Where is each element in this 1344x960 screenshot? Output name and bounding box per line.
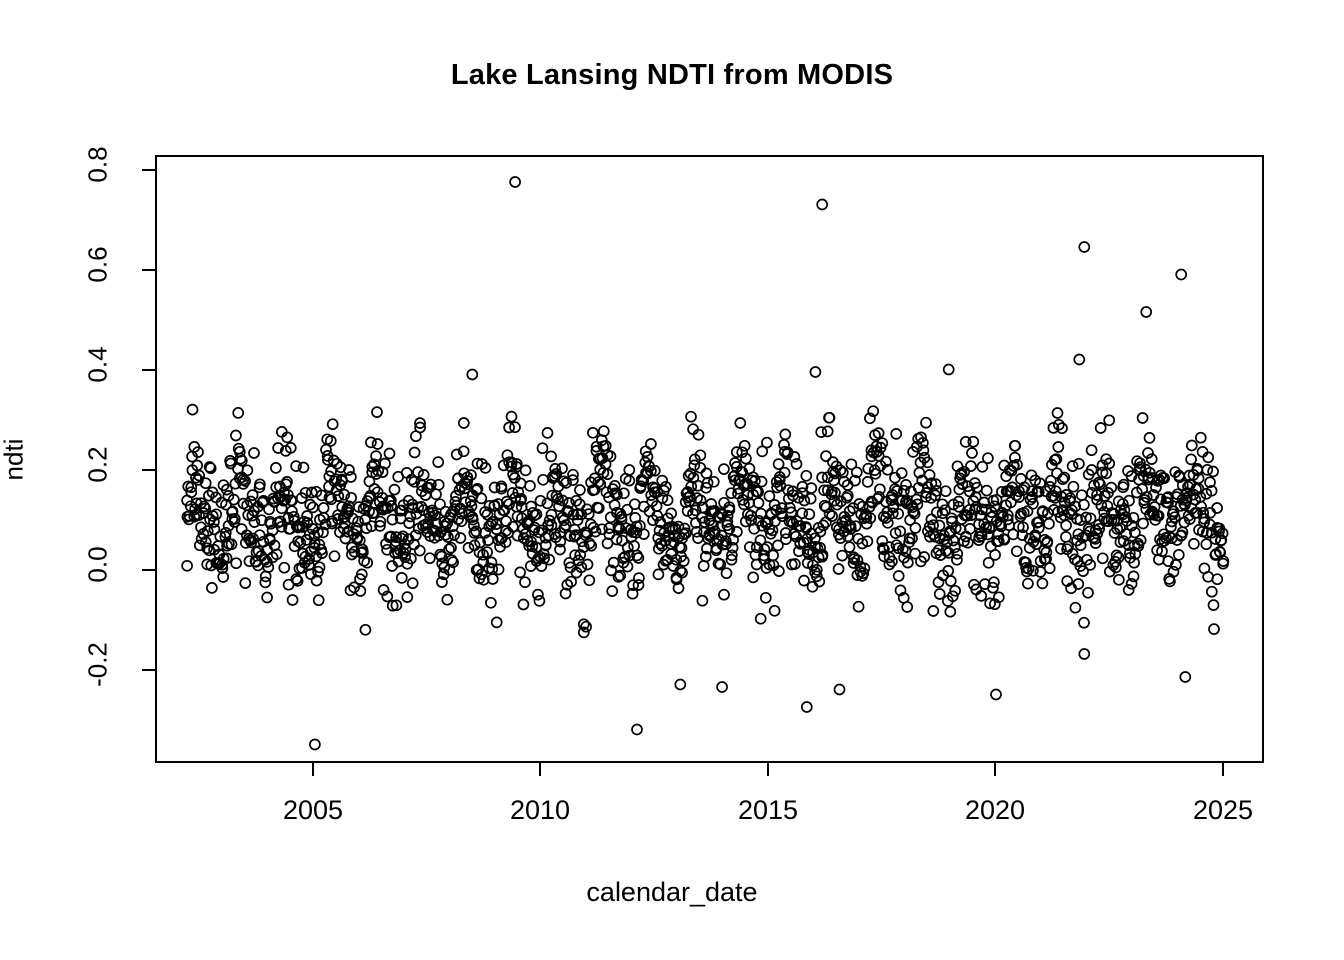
xtick-label-2010: 2010 — [470, 795, 610, 826]
page-title: Lake Lansing NDTI from MODIS — [0, 58, 1344, 92]
ytick-label-text: 0.4 — [83, 346, 113, 382]
xtick-mark-2025 — [1222, 763, 1224, 776]
ytick-mark-0 — [142, 169, 155, 171]
ytick-label-text: 0.8 — [83, 146, 113, 182]
ytick-mark-3 — [142, 469, 155, 471]
xtick-label-2025: 2025 — [1153, 795, 1293, 826]
xtick-label-2015: 2015 — [698, 795, 838, 826]
ytick-label-text: 0.6 — [83, 246, 113, 282]
ytick-label-text: 0.0 — [83, 546, 113, 582]
ytick-mark-1 — [142, 269, 155, 271]
xtick-label-2020: 2020 — [925, 795, 1065, 826]
plot-figure: Lake Lansing NDTI from MODIS 0.8 0.6 0.4… — [0, 0, 1344, 960]
xtick-label-2005: 2005 — [243, 795, 383, 826]
xtick-mark-2005 — [312, 763, 314, 776]
xtick-mark-2015 — [767, 763, 769, 776]
scatter-point-marks — [182, 177, 1228, 750]
scatter-points-layer — [157, 157, 1264, 763]
ytick-mark-2 — [142, 369, 155, 371]
y-axis-label: ndti — [0, 400, 30, 520]
ytick-mark-5 — [142, 669, 155, 671]
xtick-mark-2020 — [994, 763, 996, 776]
xtick-mark-2010 — [539, 763, 541, 776]
ytick-label-text: -0.2 — [83, 642, 113, 687]
ytick-label-text: 0.2 — [83, 446, 113, 482]
x-axis-label: calendar_date — [0, 877, 1344, 908]
ytick-label--0.2: -0.2 — [83, 605, 114, 725]
plot-area — [155, 155, 1264, 763]
ytick-mark-4 — [142, 569, 155, 571]
